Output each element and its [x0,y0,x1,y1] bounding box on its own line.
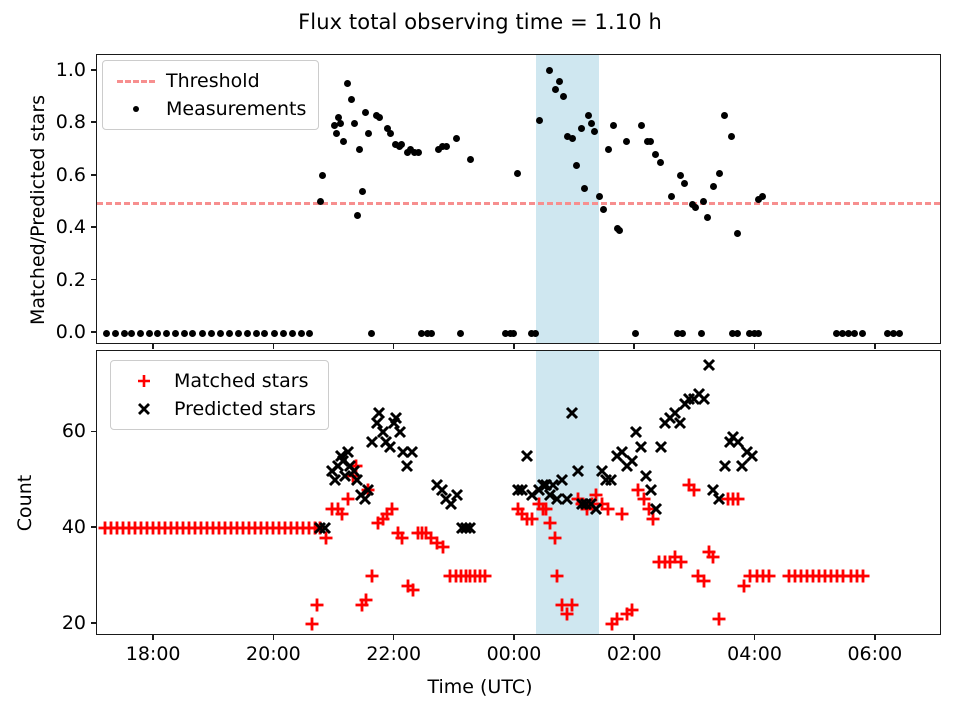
matched-star-marker [205,520,221,536]
matched-star-marker [309,597,325,613]
matched-star-marker [277,520,293,536]
xtick-mark [513,635,515,640]
matched-star-marker [121,520,137,536]
matched-star-marker [696,573,712,589]
measurement-point [344,80,351,87]
matched-star-marker [686,482,702,498]
measurement-point [851,330,858,337]
matched-star-marker [340,491,356,507]
xtick-mark [152,344,154,349]
measurement-point [610,122,617,129]
top-ytick-label: 0.0 [16,321,86,343]
predicted-star-marker [672,415,688,431]
matched-star-marker [318,530,334,546]
bottom-ytick-label: 20 [16,612,86,634]
matched-star-marker [301,520,317,536]
measurement-point [453,135,460,142]
predicted-star-marker [603,472,619,488]
measurement-point [677,172,684,179]
matched-star-marker [681,477,697,493]
measurement-point [623,138,630,145]
measurement-point [668,193,675,200]
matched-star-marker [448,568,464,584]
matched-star-marker [619,606,635,622]
predicted-star-marker [312,520,328,536]
matched-star-marker [235,520,251,536]
measurement-point [289,330,296,337]
bottom-panel-ylabel: Count [14,423,36,583]
matched-star-marker [345,468,361,484]
matched-star-marker [720,491,736,507]
matched-star-marker [157,520,173,536]
predicted-star-marker [454,520,470,536]
measurement-point [573,162,580,169]
matched-star-marker [477,568,493,584]
measurement-point [271,330,278,337]
matched-star-marker [829,568,845,584]
matched-star-marker [139,520,155,536]
measurement-point [181,330,188,337]
matched-star-marker [435,539,451,555]
predicted-star-marker [386,415,402,431]
matched-star-marker [379,506,395,522]
measurement-point [337,120,344,127]
matched-star-marker [630,482,646,498]
ytick-mark [91,121,96,123]
measurement-point [536,117,543,124]
measurement-point [759,193,766,200]
matched-star-marker [211,520,227,536]
predicted-star-marker [317,520,333,536]
measurement-point [585,112,592,119]
predicted-star-marker [701,357,717,373]
ytick-mark [91,431,96,433]
xtick-mark [513,344,515,349]
matched-star-marker [667,549,683,565]
predicted-star-marker [337,468,353,484]
measurement-point [578,125,585,132]
measurement-point [652,151,659,158]
matched-star-marker [817,568,833,584]
matched-star-marker [835,568,851,584]
matched-star-marker [849,568,865,584]
measurement-point [340,138,347,145]
predicted-star-marker [335,453,351,469]
predicted-star-marker [342,458,358,474]
measurement-point [704,214,711,221]
matched-star-marker [193,520,209,536]
matched-star-marker [662,554,678,570]
predicted-star-marker [324,463,340,479]
matched-star-marker [358,592,374,608]
ytick-mark [91,226,96,228]
legend-item-predicted-stars: Predicted stars [120,395,316,423]
ytick-mark [91,331,96,333]
measurement-point [306,330,313,337]
matched-star-marker [229,520,245,536]
matched-star-marker [360,482,376,498]
dot-marker-key-icon [112,106,160,112]
matched-star-marker [330,501,346,517]
predicted-star-marker [510,482,526,498]
measurement-point [351,120,358,127]
matched-star-marker [730,491,746,507]
measurement-point [137,330,144,337]
matched-star-marker [749,568,765,584]
matched-star-marker [609,611,625,627]
predicted-star-marker [628,424,644,440]
predicted-star-marker [458,520,474,536]
measurement-point [679,330,686,337]
predicted-star-marker [392,424,408,440]
matched-star-marker [265,520,281,536]
measurement-point [226,330,233,337]
xtick-mark [633,344,635,349]
matched-star-marker [175,520,191,536]
matched-star-marker [364,568,380,584]
xtick-mark [273,344,275,349]
matched-star-marker [127,520,143,536]
measurement-point [734,230,741,237]
matched-star-marker [410,525,426,541]
predicted-star-marker [717,458,733,474]
predicted-star-marker [340,444,356,460]
measurement-point [457,330,464,337]
matched-star-marker [429,535,445,551]
matched-star-marker [761,568,777,584]
xtick-label: 22:00 [349,643,439,665]
predicted-star-marker [357,491,373,507]
matched-star-marker [641,501,657,517]
predicted-star-marker [404,444,420,460]
measurement-point [415,149,422,156]
predicted-star-marker [633,439,649,455]
top-ytick-label: 0.4 [16,216,86,238]
matched-star-marker [390,525,406,541]
matched-star-marker [636,491,652,507]
matched-star-marker [348,458,364,474]
predicted-star-marker [691,386,707,402]
measurement-point [596,193,603,200]
measurement-point [199,330,206,337]
matched-star-marker [400,578,416,594]
matched-star-marker [600,501,616,517]
matched-star-marker [811,568,827,584]
matched-star-marker [169,520,185,536]
predicted-star-marker [609,448,625,464]
measurement-point [376,114,383,121]
measurement-point [605,146,612,153]
matched-star-marker [253,520,269,536]
matched-star-marker [307,520,323,536]
matched-star-marker [793,568,809,584]
measurement-point [692,204,699,211]
ytick-mark [91,279,96,281]
predicted-star-marker [677,396,693,412]
measurement-point [556,78,563,85]
predicted-star-marker [395,444,411,460]
legend-label-matched-stars: Matched stars [168,370,308,392]
matched-star-marker [614,506,630,522]
matched-star-marker [163,520,179,536]
matched-star-marker [181,520,197,536]
predicted-star-marker [711,491,727,507]
matched-star-marker [519,511,535,527]
ytick-mark [91,622,96,624]
matched-star-marker [115,520,131,536]
predicted-star-marker [681,391,697,407]
matched-star-marker [843,568,859,584]
matched-star-marker [823,568,839,584]
predicted-star-marker [734,458,750,474]
measurement-point [632,330,639,337]
measurement-point [532,330,539,337]
measurement-point [716,170,723,177]
xtick-mark [633,635,635,640]
matched-star-marker [375,511,391,527]
measurement-point [616,227,623,234]
matched-star-marker [145,520,161,536]
measurement-point [172,330,179,337]
matched-star-marker [271,520,287,536]
top-ytick-label: 0.6 [16,164,86,186]
predicted-star-marker [614,444,630,460]
matched-star-marker [223,520,239,536]
measurement-point [514,170,521,177]
matched-star-marker [604,616,620,632]
predicted-star-marker [686,391,702,407]
matched-star-marker [289,520,305,536]
xtick-mark [754,635,756,640]
plus-marker-key-icon [120,372,168,390]
measurement-point [638,122,645,129]
predicted-star-marker [662,410,678,426]
xaxis-label: Time (UTC) [0,676,960,698]
matched-star-marker [799,568,815,584]
measurement-point [859,330,866,337]
matched-star-marker [334,506,350,522]
predicted-star-marker [519,448,535,464]
matched-star-marker [855,568,871,584]
dashed-line-key-icon [112,80,160,83]
matched-star-marker [133,520,149,536]
predicted-star-marker [598,472,614,488]
predicted-star-marker [705,482,721,498]
predicted-star-marker [730,434,746,450]
measurement-point [365,130,372,137]
matched-star-marker [109,520,125,536]
predicted-star-marker [638,468,654,484]
ytick-mark [91,526,96,528]
measurement-point [581,185,588,192]
ytick-mark [91,69,96,71]
measurement-point [235,330,242,337]
measurement-point [217,330,224,337]
matched-star-marker [324,501,340,517]
matched-star-marker [295,520,311,536]
xtick-label: 04:00 [710,643,800,665]
matched-star-marker [394,530,410,546]
matched-star-marker [384,501,400,517]
predicted-star-marker [327,472,343,488]
measurement-point [755,330,762,337]
matched-star-marker [651,554,667,570]
measurement-point [657,159,664,166]
matched-star-marker [259,520,275,536]
measurement-point [163,330,170,337]
measurement-point [710,183,717,190]
matched-star-marker [312,520,328,536]
predicted-star-marker [399,458,415,474]
predicted-star-marker [371,405,387,421]
legend-label-threshold: Threshold [160,70,260,92]
xtick-label: 00:00 [469,643,559,665]
legend-item-threshold: Threshold [112,67,306,95]
matched-star-marker [187,520,203,536]
matched-star-marker [472,568,488,584]
predicted-star-marker [744,448,760,464]
measurement-point [721,112,728,119]
predicted-star-marker [725,429,741,445]
matched-star-marker [781,568,797,584]
matched-star-marker [103,520,119,536]
measurement-point [348,96,355,103]
matched-star-marker [217,520,233,536]
measurement-point [121,330,128,337]
predicted-star-marker [364,434,380,450]
predicted-star-marker [696,391,712,407]
predicted-star-marker [443,496,459,512]
predicted-star-marker [739,444,755,460]
predicted-star-marker [514,482,530,498]
top-ytick-label: 1.0 [16,59,86,81]
measurement-point [600,206,607,213]
ytick-mark [91,174,96,176]
matched-star-marker [405,582,421,598]
matched-star-marker [247,520,263,536]
xtick-mark [393,344,395,349]
matched-star-marker [442,568,458,584]
matched-star-marker [690,568,706,584]
matched-star-marker [467,568,483,584]
measurement-point [398,141,405,148]
figure-canvas: Flux total observing time = 1.10 h Match… [0,0,960,720]
matched-star-marker [151,520,167,536]
highlight-band [536,351,599,634]
xtick-mark [874,344,876,349]
predicted-star-marker [360,482,376,498]
matched-star-marker [423,530,439,546]
matched-star-marker [514,506,530,522]
matched-star-marker [736,578,752,594]
predicted-star-marker [375,424,391,440]
matched-star-marker [624,602,640,618]
measurement-point [112,330,119,337]
bottom-ytick-label: 60 [16,420,86,442]
measurement-point [698,330,705,337]
predicted-star-marker [722,434,738,450]
predicted-star-marker [330,458,346,474]
measurement-point [387,130,394,137]
measurement-point [428,330,435,337]
predicted-star-marker [388,410,404,426]
predicted-star-marker [369,415,385,431]
predicted-star-marker [657,415,673,431]
measurement-point [280,330,287,337]
xtick-label: 18:00 [108,643,198,665]
predicted-star-marker [619,458,635,474]
matched-star-marker [742,568,758,584]
predicted-star-marker [382,439,398,455]
matched-star-marker [701,544,717,560]
matched-star-marker [241,520,257,536]
measurement-point [319,172,326,179]
predicted-star-marker [429,477,445,493]
matched-star-marker [283,520,299,536]
predicted-star-marker [462,520,478,536]
matched-star-marker [805,568,821,584]
matched-star-marker [199,520,215,536]
matched-star-marker [657,554,673,570]
measurement-point [253,330,260,337]
legend-label-measurements: Measurements [160,98,306,120]
measurement-point [510,330,517,337]
xtick-mark [754,344,756,349]
matched-star-marker [711,611,727,627]
matched-star-marker [418,525,434,541]
predicted-star-marker [624,453,640,469]
measurement-point [728,133,735,140]
matched-star-marker [645,511,661,527]
measurement-point [261,330,268,337]
matched-star-marker [458,568,474,584]
predicted-star-marker [653,439,669,455]
measurement-point [298,330,305,337]
top-ytick-label: 0.8 [16,111,86,133]
top-panel-legend: Threshold Measurements [102,60,319,130]
predicted-star-marker [667,405,683,421]
matched-star-marker [510,501,526,517]
legend-item-matched-stars: Matched stars [120,367,316,395]
matched-star-marker [453,568,469,584]
measurement-point [362,109,369,116]
top-ytick-label: 0.2 [16,269,86,291]
predicted-star-marker [349,472,365,488]
bottom-panel-legend: Matched stars Predicted stars [110,360,329,430]
cross-marker-key-icon [120,400,168,418]
measurement-point [368,330,375,337]
matched-star-marker [462,568,478,584]
matched-star-marker [414,525,430,541]
measurement-point [146,330,153,337]
highlight-band [536,55,599,343]
predicted-star-marker [378,434,394,450]
xtick-label: 02:00 [589,643,679,665]
predicted-star-marker [346,463,362,479]
xtick-label: 06:00 [830,643,920,665]
matched-star-marker [787,568,803,584]
predicted-star-marker [643,482,659,498]
matched-star-marker [725,491,741,507]
measurement-point [333,130,340,137]
measurement-point [244,330,251,337]
predicted-star-marker [434,482,450,498]
bottom-ytick-label: 40 [16,516,86,538]
matched-star-marker [97,520,113,536]
measurement-point [681,180,688,187]
measurement-point [734,330,741,337]
predicted-star-marker [449,487,465,503]
